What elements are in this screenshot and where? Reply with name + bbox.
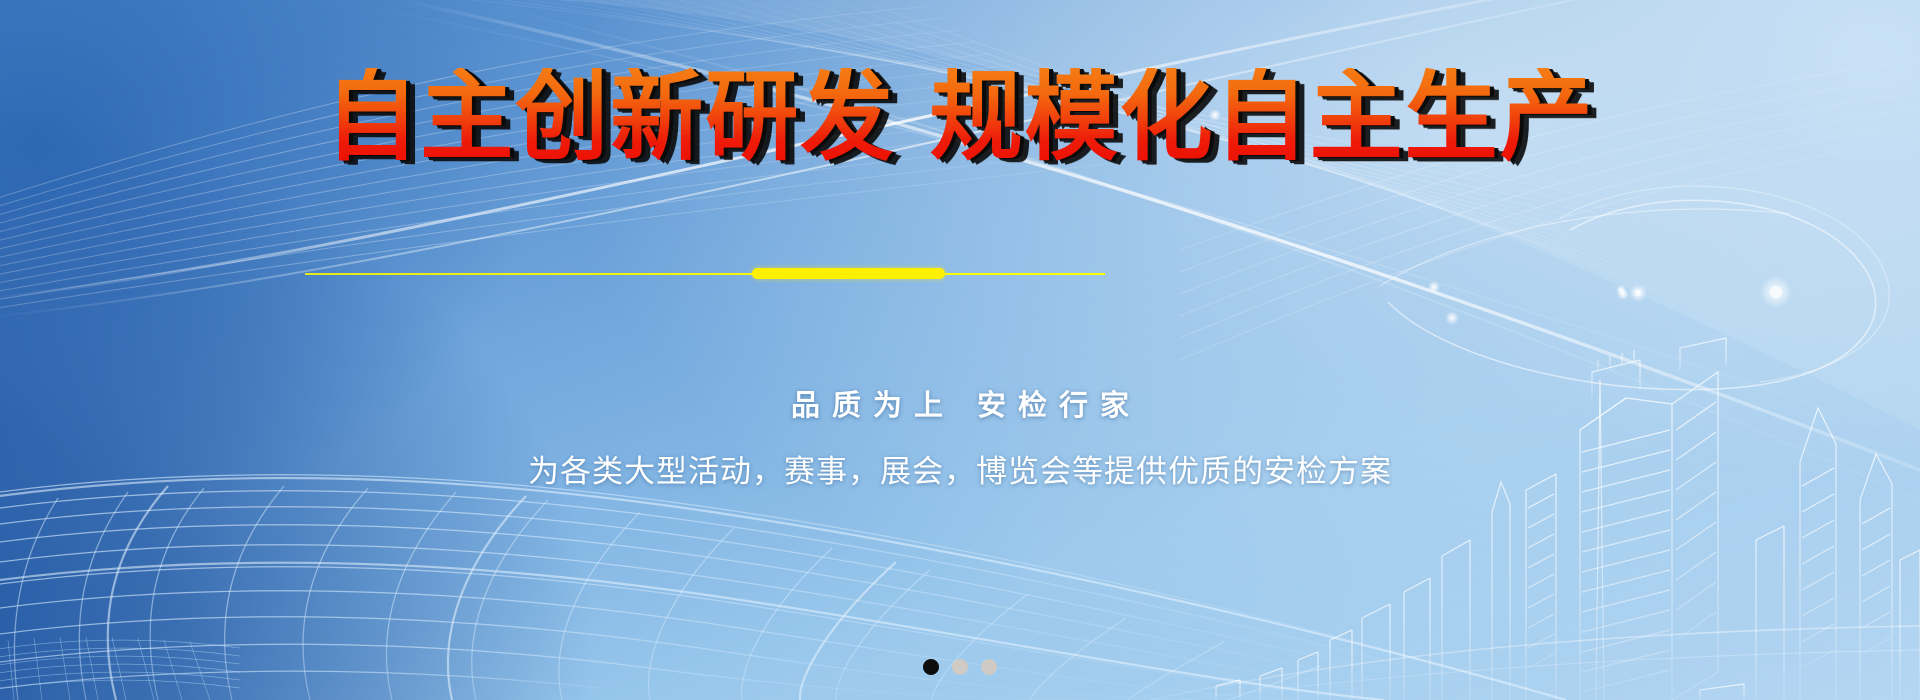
yellow-divider [305,272,1105,275]
subtitle-primary: 品质为上 安检行家 [0,382,1920,424]
page-title: 自主创新研发 规模化自主生产 [0,68,1920,167]
carousel-dot-1[interactable] [923,659,939,675]
divider-thick-bar [752,268,945,279]
divider-thin-line [305,273,1105,275]
hero-banner: 自主创新研发 规模化自主生产 品质为上 安检行家 为各类大型活动，赛事，展会，博… [0,0,1920,700]
subtitle-secondary: 为各类大型活动，赛事，展会，博览会等提供优质的安检方案 [0,446,1920,491]
carousel-indicators [0,659,1920,675]
carousel-dot-3[interactable] [981,659,997,675]
carousel-dot-2[interactable] [952,659,968,675]
